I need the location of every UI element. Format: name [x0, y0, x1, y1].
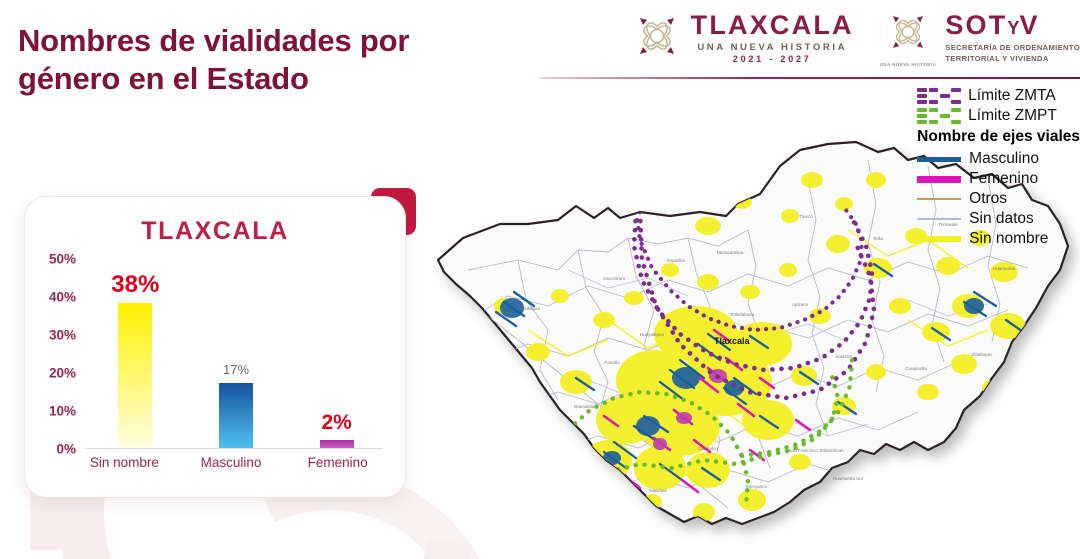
legend-label-sin-datos: Sin datos — [969, 211, 1034, 227]
svg-text:San Francisco Tetlanohcan: San Francisco Tetlanohcan — [788, 448, 844, 453]
chart-card[interactable]: TLAXCALA 0%10%20%30%40%50%38%17%2% Sin n… — [24, 196, 406, 498]
line-swatch-icon — [917, 218, 961, 220]
legend-label-sin-nombre: Sin nombre — [969, 231, 1048, 247]
legend-heading-ejes-viales: Nombre de ejes viales — [917, 128, 1080, 146]
line-swatch-icon — [917, 236, 961, 242]
svg-text:Hueyotlipan: Hueyotlipan — [640, 332, 665, 337]
svg-text:Tetlatlahuca: Tetlatlahuca — [730, 312, 755, 317]
chart-category-label-0: Sin nombre — [71, 455, 178, 470]
logo-sotyv-acronym: SOTYV — [945, 12, 1080, 39]
logo-tlaxcala-years: 2021 - 2027 — [691, 55, 854, 64]
line-swatch-icon — [917, 157, 961, 162]
map-city-label-tlaxcala: Tlaxcala — [714, 336, 750, 346]
logo-sotyv: UNA NUEVA HISTORIA SOTYV SECRETARÍA DE O… — [880, 10, 1080, 67]
legend-label-limite-zmpt: Límite ZMPT — [968, 108, 1057, 124]
chart-bar-value-2: 2% — [321, 412, 351, 433]
legend-item-otros: Otros — [917, 189, 1080, 209]
svg-text:Calpulalpan: Calpulalpan — [516, 306, 541, 311]
svg-text:Ixtacuixtla: Ixtacuixtla — [574, 404, 595, 409]
svg-text:Cuapiaxtla: Cuapiaxtla — [905, 366, 927, 371]
chart-category-label-2: Femenino — [284, 455, 391, 470]
chart-bar-2[interactable] — [320, 440, 354, 448]
legend-label-masculino: Masculino — [969, 151, 1039, 167]
chart-ytick-5: 50% — [49, 252, 76, 267]
dotted-square-swatch-icon — [917, 108, 961, 124]
legend-item-limite-zmpt: Límite ZMPT — [917, 106, 1080, 126]
flower-rosette-icon — [886, 10, 930, 59]
chart-category-label-1: Masculino — [178, 455, 285, 470]
logo-sotyv-acronym-y: Y — [1007, 18, 1019, 38]
chart-axis-line — [85, 448, 383, 450]
chart-bar-1[interactable] — [219, 383, 253, 448]
logo-sotyv-dept-line-2: TERRITORIAL Y VIVIENDA — [945, 54, 1080, 64]
logo-sotyv-acronym-v: V — [1019, 10, 1039, 40]
header-divider — [540, 77, 1080, 79]
flower-rosette-icon — [632, 11, 682, 66]
svg-text:Nanacamilpa: Nanacamilpa — [717, 250, 744, 255]
chart-ytick-3: 30% — [49, 328, 76, 343]
chart-ytick-4: 40% — [49, 290, 76, 305]
logo-tlaxcala-tagline: UNA NUEVA HISTORIA — [691, 43, 854, 53]
chart-bar-0[interactable] — [118, 303, 152, 447]
dotted-square-swatch-icon — [917, 88, 961, 104]
chart-bar-value-1: 17% — [223, 363, 249, 376]
legend-item-femenino: Femenino — [917, 169, 1080, 189]
svg-text:Zacatelco: Zacatelco — [698, 446, 718, 451]
page-title-line-2: género en el Estado — [18, 60, 538, 98]
logo-strip: TLAXCALA UNA NUEVA HISTORIA 2021 - 2027 — [632, 6, 1080, 70]
svg-text:Nativitas: Nativitas — [649, 488, 667, 493]
svg-text:Huamantla Sur: Huamantla Sur — [833, 476, 864, 481]
bar-chart-plot: 0%10%20%30%40%50%38%17%2% — [85, 259, 387, 449]
svg-text:Españita: Españita — [667, 258, 685, 263]
svg-text:Huamantla: Huamantla — [993, 266, 1016, 271]
line-swatch-icon — [917, 176, 961, 183]
line-swatch-icon — [917, 198, 961, 200]
svg-text:Apizaco: Apizaco — [792, 302, 809, 307]
chart-bar-value-0: 38% — [111, 273, 159, 297]
legend-item-masculino: Masculino — [917, 149, 1080, 169]
svg-text:Tepeyanco: Tepeyanco — [745, 484, 768, 489]
chart-category-labels: Sin nombre Masculino Femenino — [71, 455, 391, 470]
chart-title: TLAXCALA — [25, 217, 405, 246]
svg-text:Tetla: Tetla — [873, 236, 883, 241]
map-legend: Límite ZMTA Límite ZMPT Nombre de ejes v… — [917, 86, 1080, 249]
chart-ytick-2: 20% — [49, 366, 76, 381]
logo-sotyv-tagline: UNA NUEVA HISTORIA — [880, 62, 937, 67]
svg-text:Tlaxco: Tlaxco — [799, 214, 813, 219]
chart-ytick-1: 10% — [49, 404, 76, 419]
logo-tlaxcala: TLAXCALA UNA NUEVA HISTORIA 2021 - 2027 — [632, 11, 854, 66]
legend-label-femenino: Femenino — [969, 171, 1038, 187]
legend-label-otros: Otros — [969, 191, 1007, 207]
svg-text:Sanctórum: Sanctórum — [603, 276, 625, 281]
svg-text:Panotla: Panotla — [604, 360, 620, 365]
legend-item-limite-zmta: Límite ZMTA — [917, 86, 1080, 106]
page-title-line-1: Nombres de vialidades por — [18, 22, 538, 60]
slide-root: Nombres de vialidades por género en el E… — [0, 0, 1080, 559]
logo-tlaxcala-name: TLAXCALA — [691, 12, 854, 39]
page-title: Nombres de vialidades por género en el E… — [18, 22, 538, 98]
svg-text:Xaloztoc: Xaloztoc — [835, 354, 853, 359]
logo-sotyv-dept-line-1: SECRETARÍA DE ORDENAMIENTO — [945, 43, 1080, 53]
legend-item-sin-nombre: Sin nombre — [917, 229, 1080, 249]
logo-sotyv-acronym-sot: SOT — [945, 10, 1007, 40]
legend-label-limite-zmta: Límite ZMTA — [968, 88, 1056, 104]
svg-text:Zitlaltepec: Zitlaltepec — [972, 352, 994, 357]
legend-item-sin-datos: Sin datos — [917, 209, 1080, 229]
